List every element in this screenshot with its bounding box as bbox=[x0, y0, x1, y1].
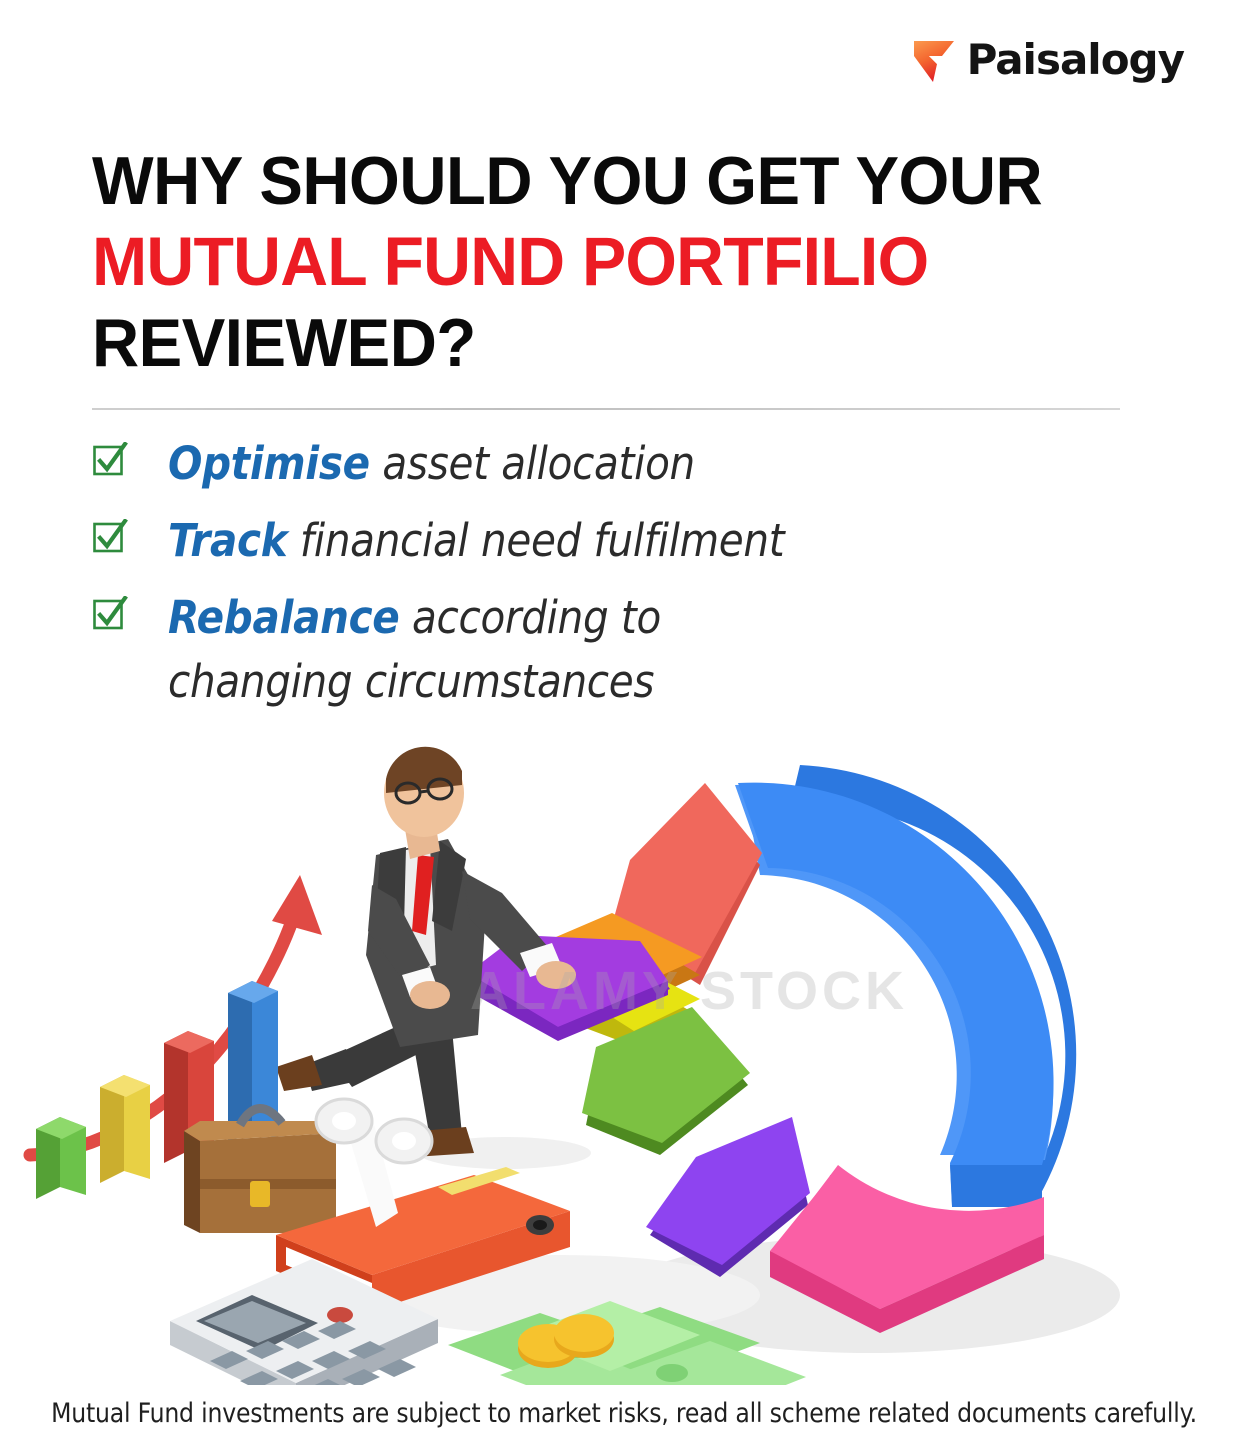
section-divider bbox=[92, 408, 1120, 410]
page-title: WHY SHOULD YOU GET YOUR MUTUAL FUND PORT… bbox=[92, 141, 1152, 383]
hero-illustration bbox=[0, 735, 1248, 1385]
list-item-text: Rebalance according to changing circumst… bbox=[168, 586, 788, 714]
list-item: Optimise asset allocation bbox=[92, 432, 1092, 496]
heading-line-1: WHY SHOULD YOU GET YOUR bbox=[92, 141, 1110, 221]
triangle-arrow-logo-icon bbox=[911, 36, 957, 84]
checkbox-checked-icon[interactable] bbox=[92, 519, 128, 555]
checkbox-checked-icon[interactable] bbox=[92, 442, 128, 478]
list-item: Rebalance according to changing circumst… bbox=[92, 586, 1092, 714]
list-item-lead: Optimise bbox=[168, 437, 370, 490]
disclaimer-text: Mutual Fund investments are subject to m… bbox=[19, 1398, 1230, 1429]
list-item-rest: asset allocation bbox=[370, 437, 695, 490]
list-item-lead: Rebalance bbox=[168, 591, 399, 644]
list-item-lead: Track bbox=[168, 514, 287, 567]
isometric-finance-scene bbox=[0, 735, 1248, 1385]
infographic-poster: Paisalogy WHY SHOULD YOU GET YOUR MUTUAL… bbox=[0, 0, 1248, 1453]
list-item-rest: financial need fulfilment bbox=[287, 514, 784, 567]
brand-name: Paisalogy bbox=[967, 39, 1184, 81]
heading-line-3: REVIEWED? bbox=[92, 303, 1110, 383]
list-item-text: Track financial need fulfilment bbox=[168, 509, 784, 573]
benefits-list: Optimise asset allocation Track financia… bbox=[92, 432, 1092, 727]
list-item: Track financial need fulfilment bbox=[92, 509, 1092, 573]
brand-logo[interactable]: Paisalogy bbox=[911, 36, 1184, 84]
briefcase-icon bbox=[184, 1108, 336, 1233]
list-item-text: Optimise asset allocation bbox=[168, 432, 695, 496]
heading-line-2-accent: MUTUAL FUND PORTFILIO bbox=[92, 221, 1110, 302]
checkbox-checked-icon[interactable] bbox=[92, 596, 128, 632]
